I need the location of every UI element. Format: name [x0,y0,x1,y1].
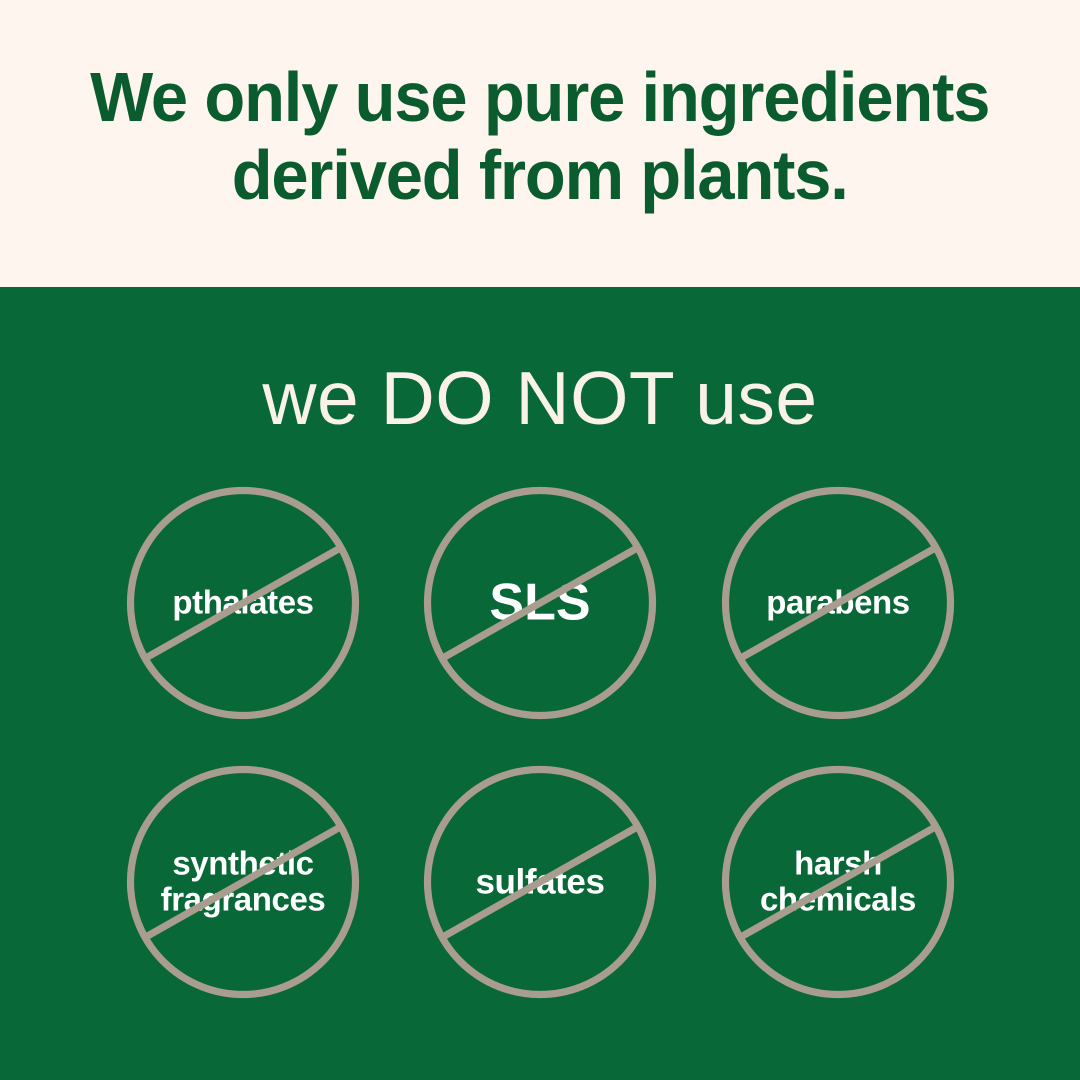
prohibition-badge: parabens [722,487,954,719]
excluded-ingredients-grid: pthalatesSLSparabenssynthetic fragrances… [0,287,1080,1080]
prohibition-slash-icon [722,487,954,719]
page-title: We only use pure ingredients derived fro… [90,59,989,214]
prohibition-badge: pthalates [127,487,359,719]
poster-root: We only use pure ingredients derived fro… [0,0,1080,1080]
prohibition-badge: SLS [424,487,656,719]
prohibition-slash-icon [127,766,359,998]
prohibition-slash-icon [424,766,656,998]
header-band: We only use pure ingredients derived fro… [0,0,1080,287]
do-not-use-panel: we DO NOT use pthalatesSLSparabenssynthe… [0,287,1080,1080]
prohibition-badge: sulfates [424,766,656,998]
prohibition-badge: harsh chemicals [722,766,954,998]
prohibition-slash-icon [722,766,954,998]
prohibition-badge: synthetic fragrances [127,766,359,998]
prohibition-slash-icon [424,487,656,719]
prohibition-slash-icon [127,487,359,719]
